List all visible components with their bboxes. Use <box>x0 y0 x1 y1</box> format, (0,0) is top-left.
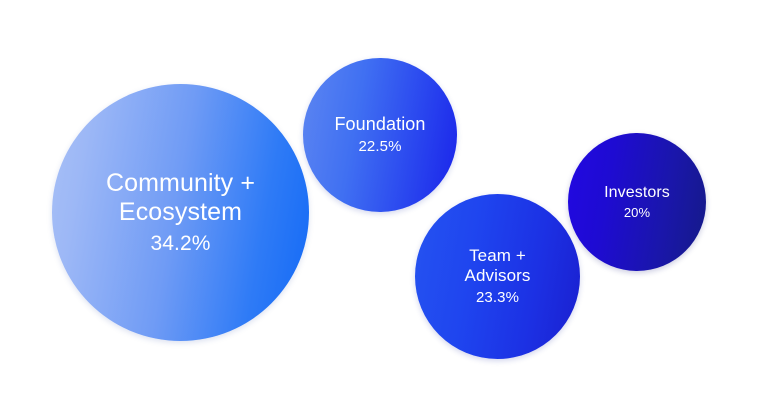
bubble-value: 20% <box>624 205 650 220</box>
bubble-chart-canvas: Community + Ecosystem 34.2% Foundation 2… <box>0 0 777 402</box>
bubble-team-advisors[interactable]: Team + Advisors 23.3% <box>415 194 580 359</box>
bubble-value: 23.3% <box>476 289 519 307</box>
bubble-label: Investors <box>604 184 670 203</box>
bubble-value: 22.5% <box>358 138 401 156</box>
bubble-label: Community + Ecosystem <box>106 169 255 228</box>
bubble-label: Foundation <box>334 114 425 135</box>
bubble-community-ecosystem[interactable]: Community + Ecosystem 34.2% <box>52 84 309 341</box>
bubble-value: 34.2% <box>150 232 210 257</box>
bubble-foundation[interactable]: Foundation 22.5% <box>303 58 457 212</box>
bubble-label: Team + Advisors <box>465 246 531 286</box>
bubble-investors[interactable]: Investors 20% <box>568 133 706 271</box>
